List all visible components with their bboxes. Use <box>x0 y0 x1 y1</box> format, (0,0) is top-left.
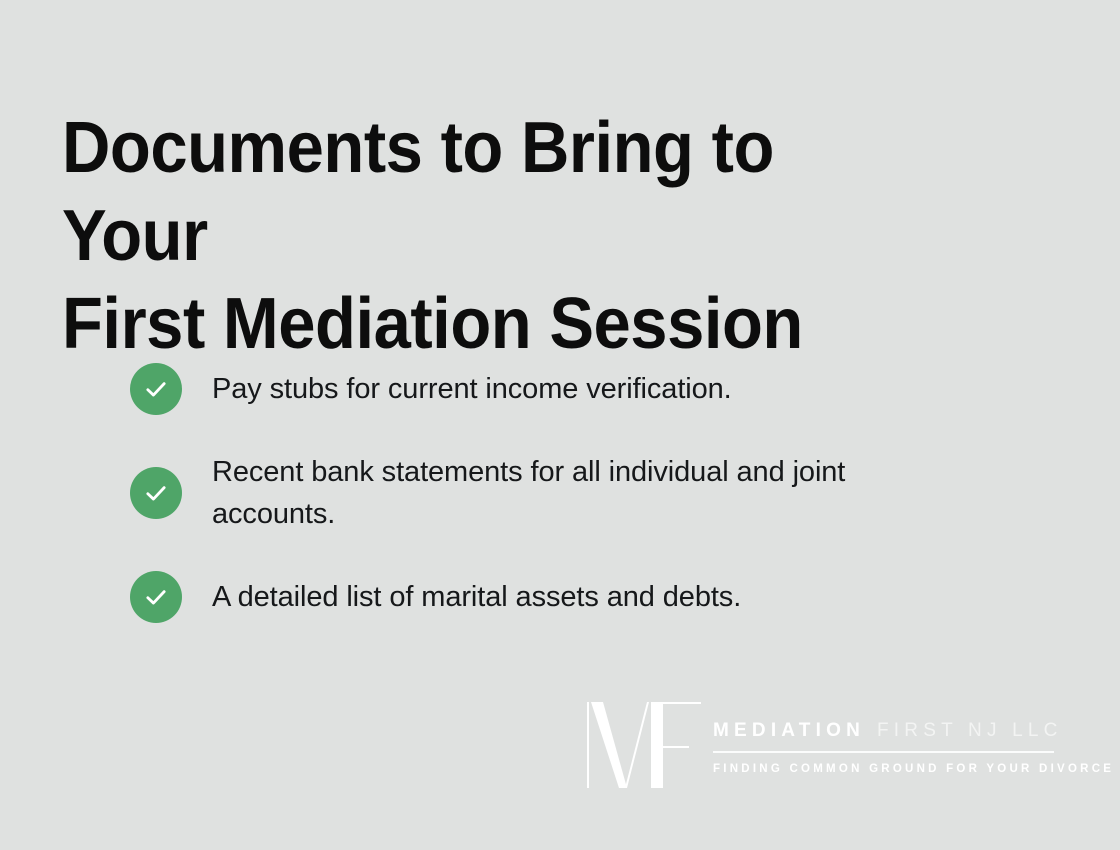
list-item: Pay stubs for current income verificatio… <box>130 363 1030 415</box>
logo-name-row: MEDIATION FIRST NJ LLC <box>713 720 1114 742</box>
list-item: Recent bank statements for all individua… <box>130 451 1030 535</box>
title-block: Documents to Bring to Your First Mediati… <box>62 104 992 368</box>
logo-name-primary: MEDIATION <box>713 720 865 742</box>
list-item-label: A detailed list of marital assets and de… <box>212 576 741 618</box>
page-title: Documents to Bring to Your First Mediati… <box>62 104 927 368</box>
brand-logo: MEDIATION FIRST NJ LLC FINDING COMMON GR… <box>583 702 1061 788</box>
check-icon <box>130 571 182 623</box>
list-item-label: Pay stubs for current income verificatio… <box>212 368 732 410</box>
logo-name-secondary: FIRST NJ LLC <box>877 720 1063 742</box>
list-item: A detailed list of marital assets and de… <box>130 571 1030 623</box>
check-icon <box>130 363 182 415</box>
mf-monogram-icon <box>583 702 701 788</box>
list-item-label: Recent bank statements for all individua… <box>212 451 972 535</box>
slide-canvas: Documents to Bring to Your First Mediati… <box>0 0 1120 850</box>
checklist: Pay stubs for current income verificatio… <box>130 363 1030 623</box>
logo-wordmark: MEDIATION FIRST NJ LLC FINDING COMMON GR… <box>701 702 1114 788</box>
logo-divider <box>713 751 1054 753</box>
logo-tagline: FINDING COMMON GROUND FOR YOUR DIVORCE <box>713 763 1114 775</box>
check-icon <box>130 467 182 519</box>
